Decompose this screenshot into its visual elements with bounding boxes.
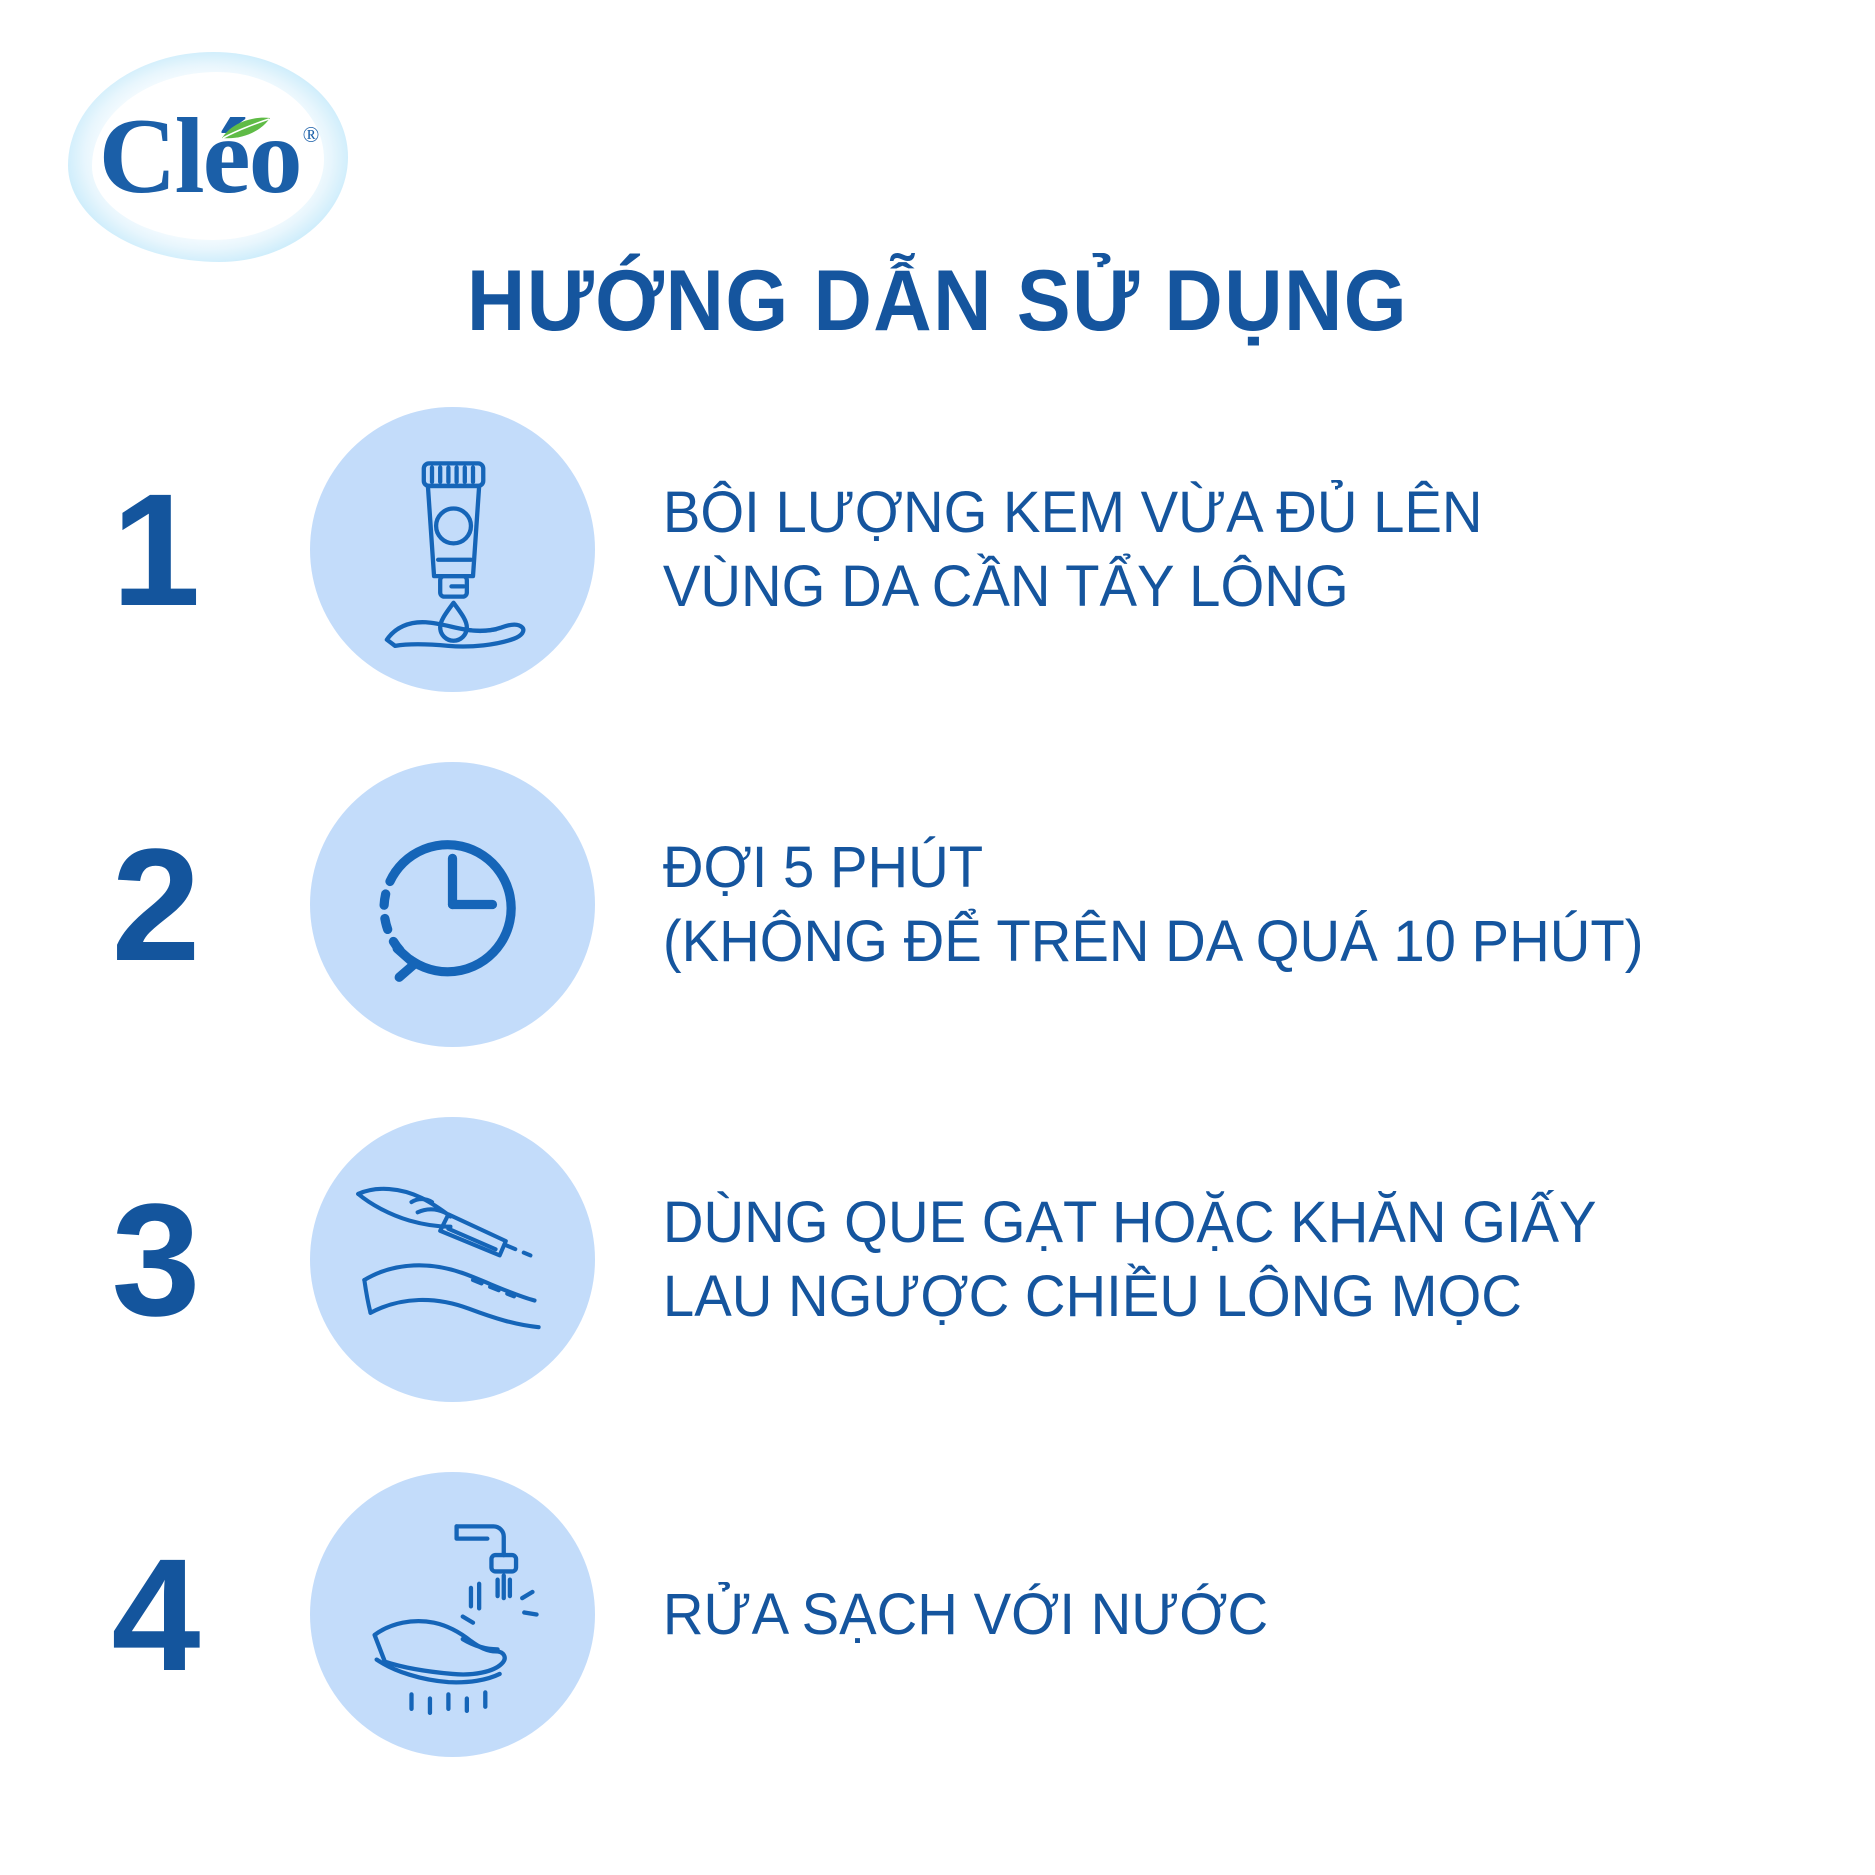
cream-tube-hand-icon (350, 447, 555, 652)
step-number: 2 (0, 825, 310, 985)
step-number: 1 (0, 470, 310, 630)
hand-washing-faucet-icon (350, 1512, 555, 1717)
step-text: ĐỢI 5 PHÚT (KHÔNG ĐỂ TRÊN DA QUÁ 10 PHÚT… (595, 831, 1837, 977)
step-row-2: 2 ĐỢI 5 PHÚT (KHÔNG ĐỂ TRÊN DA QUÁ 10 PH… (0, 727, 1875, 1082)
step-text: BÔI LƯỢNG KEM VỪA ĐỦ LÊN VÙNG DA CẦN TẨY… (595, 476, 1837, 622)
step-text: DÙNG QUE GẠT HOẶC KHĂN GIẤY LAU NGƯỢC CH… (595, 1186, 1837, 1332)
steps-list: 1 (0, 372, 1875, 1792)
page-title: HƯỚNG DẪN SỬ DỤNG (56, 252, 1819, 351)
registered-mark: ® (303, 124, 318, 146)
step-icon-circle-4 (310, 1472, 595, 1757)
step-number: 3 (0, 1180, 310, 1340)
brand-logo: Cléo® (68, 52, 348, 262)
step-icon-circle-3 (310, 1117, 595, 1402)
step-row-4: 4 (0, 1437, 1875, 1792)
step-icon-circle-2 (310, 762, 595, 1047)
logo-wordmark: Cléo® (68, 52, 348, 262)
step-number: 4 (0, 1535, 310, 1695)
step-row-1: 1 (0, 372, 1875, 727)
step-row-3: 3 (0, 1082, 1875, 1437)
clock-timer-icon (350, 802, 555, 1007)
step-icon-circle-1 (310, 407, 595, 692)
step-text: RỬA SẠCH VỚI NƯỚC (595, 1578, 1837, 1651)
spatula-scraper-leg-icon (350, 1157, 555, 1362)
leaf-icon (220, 116, 272, 142)
